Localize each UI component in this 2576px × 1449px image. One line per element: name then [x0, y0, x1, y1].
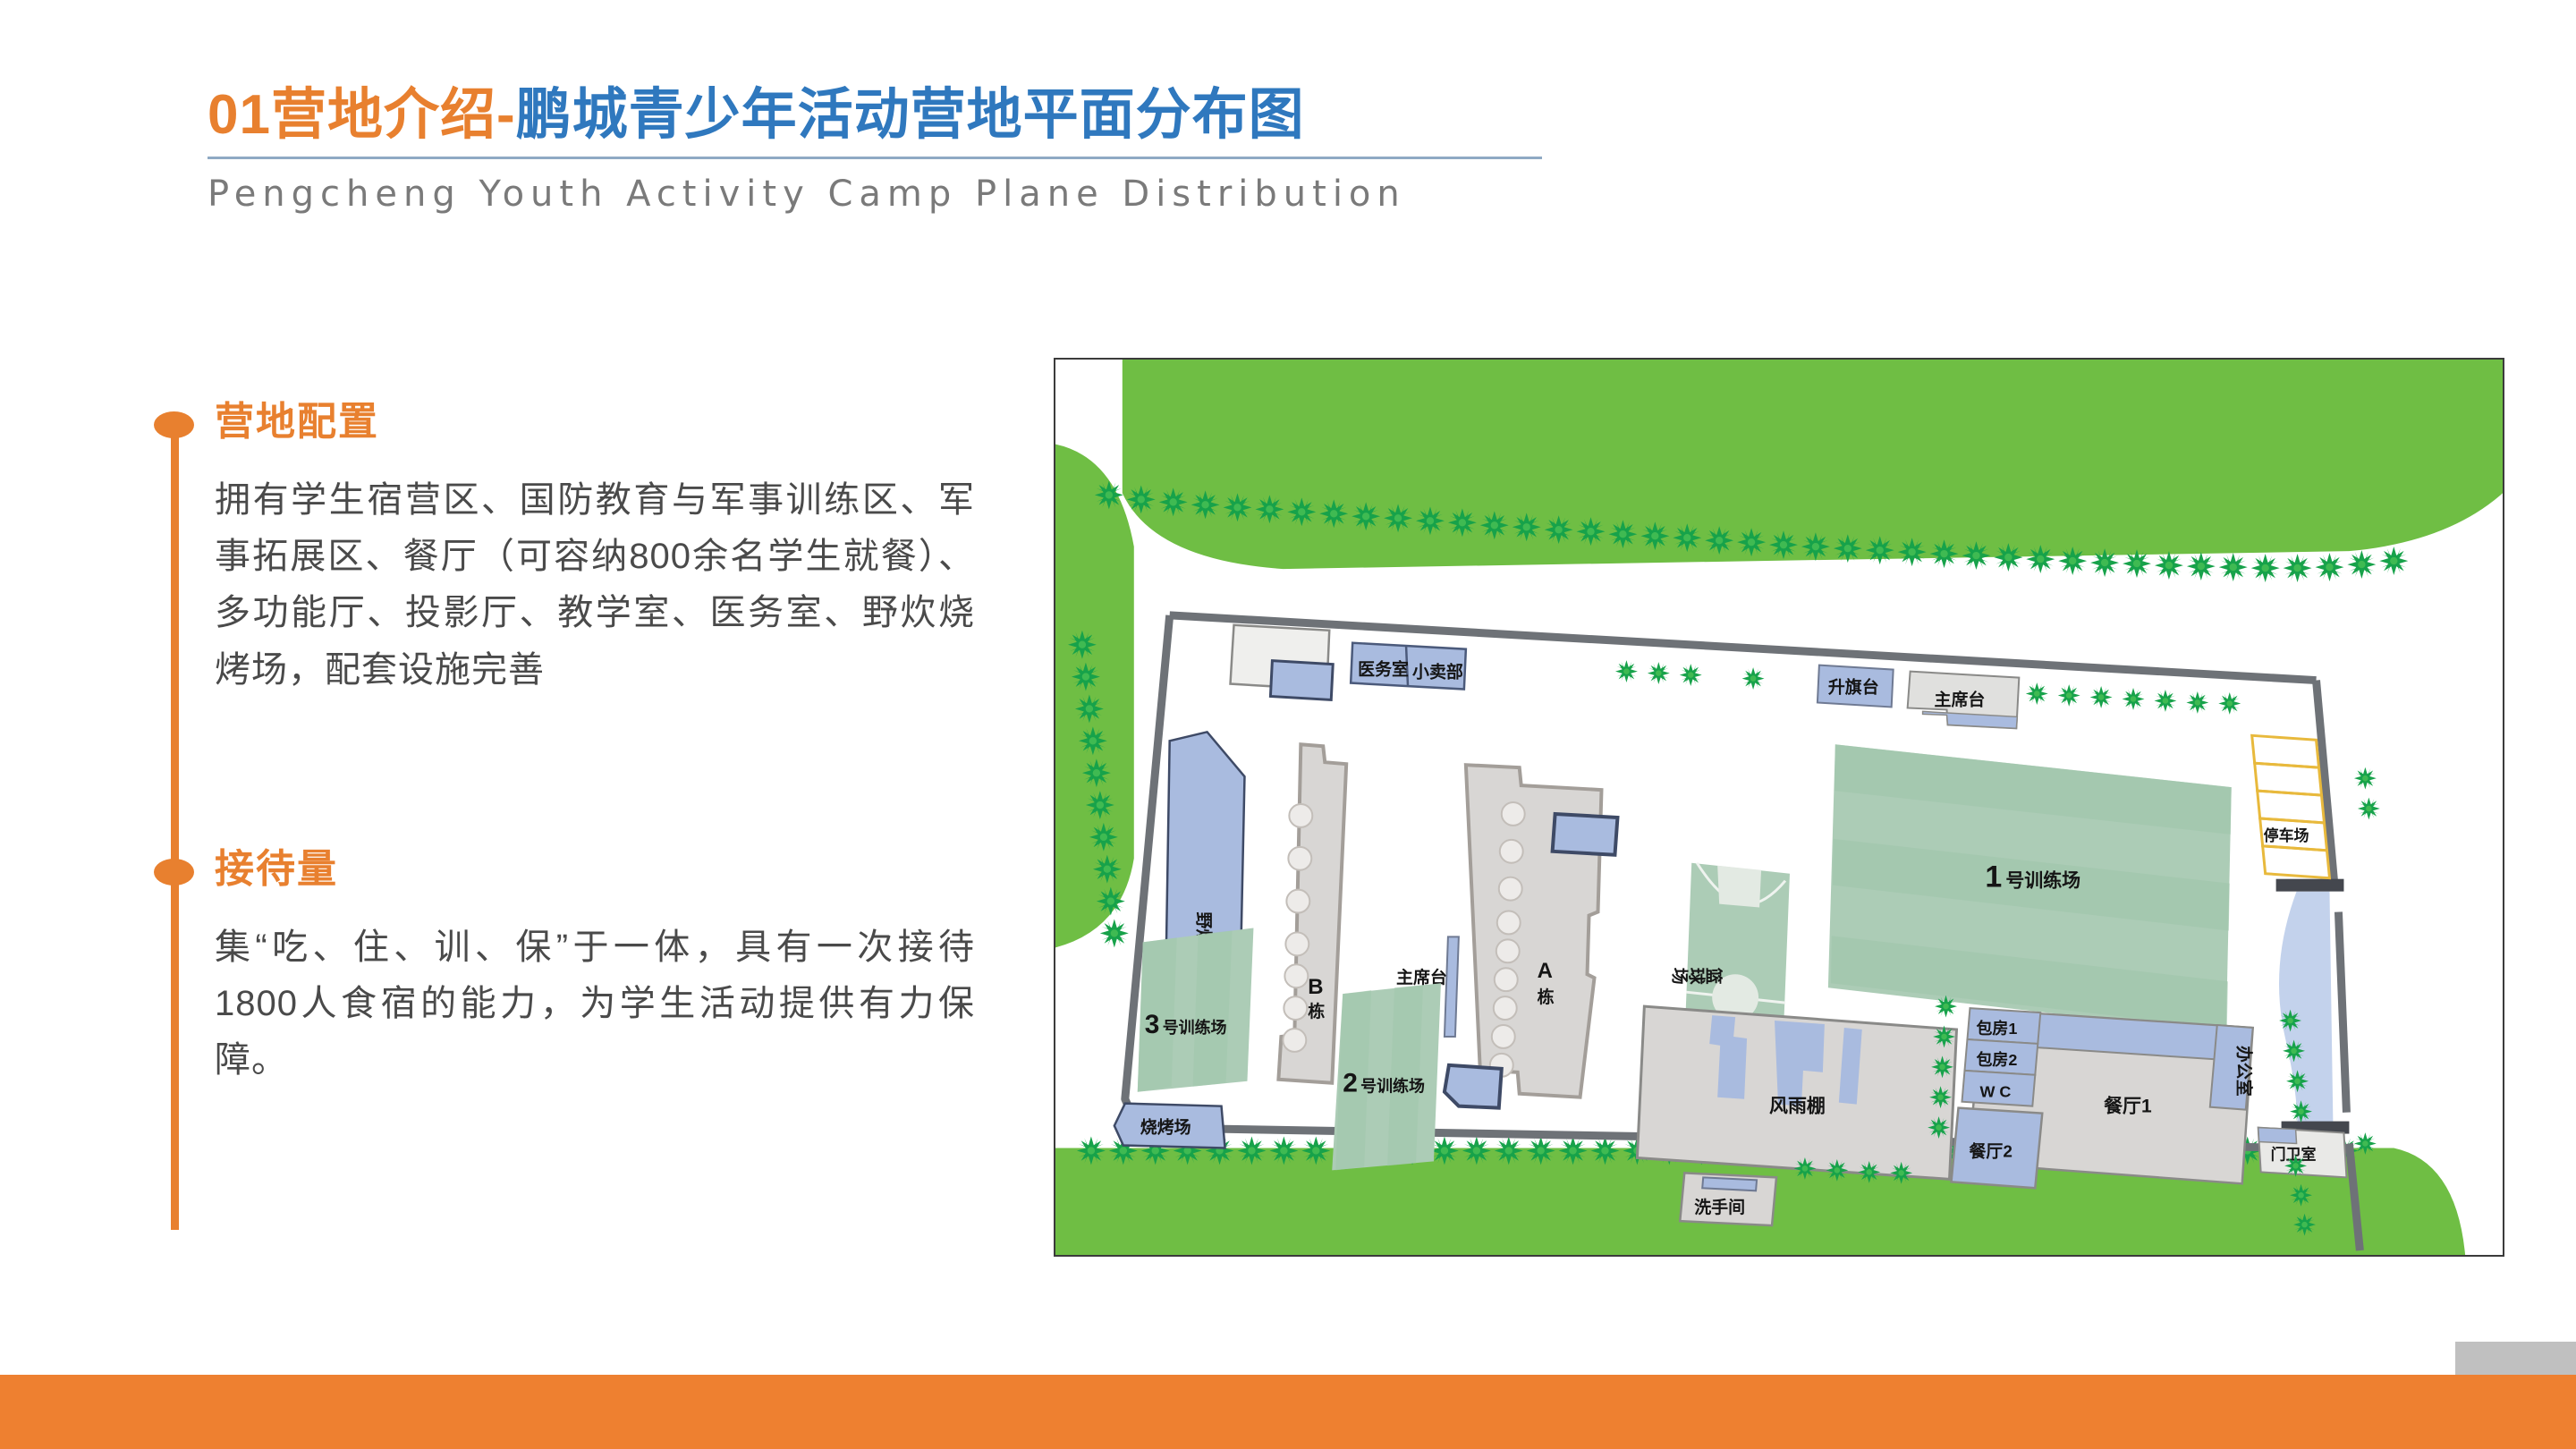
bullet-marker-icon-2 — [154, 859, 194, 885]
restroom: 洗手间 — [1680, 1173, 1776, 1225]
northwest-small-building — [1231, 625, 1334, 700]
section-1-body: 拥有学生宿营区、国防教育与军事训练区、军事拓展区、餐厅（可容纳800余名学生就餐… — [215, 472, 975, 699]
info-section-1: 营地配置 拥有学生宿营区、国防教育与军事训练区、军事拓展区、餐厅（可容纳800余… — [215, 402, 1002, 699]
label-field-1-suffix: 号训练场 — [2005, 870, 2080, 892]
camp-plan-map: 停车场 门卫室 医务室 小卖部 升旗台 主席台 1 号训练场 — [1054, 358, 2504, 1257]
label-restroom: 洗手间 — [1694, 1197, 1745, 1217]
label-building-a-letter: A — [1538, 959, 1553, 983]
page-title-blue-part: 鹏城青少年活动营地平面分布图 — [516, 84, 1305, 146]
hedge-trees-right-upper — [2354, 767, 2380, 820]
label-building-b-suffix: 栋 — [1308, 1001, 1325, 1021]
label-wc: W C — [1979, 1083, 2011, 1101]
training-field-2: 2 号训练场 — [1332, 983, 1441, 1170]
label-private-room-1: 包房1 — [1976, 1019, 2017, 1038]
training-field-1: 1 号训练场 — [1828, 744, 2232, 1033]
label-private-room-2: 包房2 — [1976, 1050, 2017, 1069]
page-title-orange-suffix: 营地介绍- — [271, 84, 516, 146]
timeline-vertical-line — [171, 420, 179, 1230]
flag-raising-platform: 升旗台 — [1818, 665, 1894, 708]
page-subtitle: Pengcheng Youth Activity Camp Plane Dist… — [208, 174, 1728, 215]
label-flag-platform: 升旗台 — [1828, 677, 1879, 698]
training-field-3: 3 号训练场 — [1138, 928, 1254, 1091]
section-2-body: 集“吃、住、训、保”于一体，具有一次接待1800人食宿的能力，为学生活动提供有力… — [215, 919, 975, 1089]
label-canteen-1: 餐厅1 — [2104, 1096, 2152, 1117]
rostrum-top: 主席台 — [1908, 672, 2020, 729]
camp-plan-svg: 停车场 门卫室 医务室 小卖部 升旗台 主席台 1 号训练场 — [1055, 360, 2503, 1255]
title-underline-divider — [208, 157, 1542, 159]
footer-orange-bar — [0, 1375, 2576, 1449]
label-office: 办公室 — [2234, 1046, 2255, 1097]
label-medical-room: 医务室 — [1358, 659, 1409, 680]
label-canteen-2: 餐厅2 — [1969, 1140, 2012, 1161]
label-guard-room: 门卫室 — [2271, 1145, 2317, 1163]
label-rostrum-top: 主席台 — [1935, 689, 1986, 709]
page-header: 01营地介绍-鹏城青少年活动营地平面分布图 Pengcheng Youth Ac… — [208, 86, 1728, 215]
hedge-trees-east-strip — [2354, 1132, 2377, 1155]
label-building-b-letter: B — [1308, 975, 1323, 999]
label-field-2-suffix: 号训练场 — [1360, 1077, 1425, 1096]
label-basketball-court: 篮球场 — [1672, 965, 1724, 985]
label-bbq-area: 烧烤场 — [1140, 1117, 1191, 1138]
building-a: A 栋 — [1445, 765, 1618, 1107]
page-title: 01营地介绍-鹏城青少年活动营地平面分布图 — [208, 86, 1728, 144]
rain-shelter: 风雨棚 — [1637, 1006, 1956, 1179]
label-shop: 小卖部 — [1412, 662, 1463, 682]
label-rain-shelter: 风雨棚 — [1769, 1096, 1826, 1117]
canteen-complex: 办公室 餐厅1 包房1 包房2 W C 餐厅2 — [1952, 1008, 2255, 1188]
label-field-3-suffix: 号训练场 — [1163, 1018, 1227, 1037]
bbq-area: 烧烤场 — [1114, 1104, 1225, 1148]
parking-lot-area: 停车场 — [2252, 735, 2330, 877]
label-field-3-number: 3 — [1145, 1010, 1160, 1039]
footer-corner-tab — [2455, 1342, 2576, 1375]
label-building-a-suffix: 栋 — [1538, 987, 1555, 1007]
section-1-heading: 营地配置 — [215, 402, 1002, 442]
bullet-marker-icon-1 — [154, 411, 194, 438]
label-field-1-number: 1 — [1985, 860, 2002, 894]
page-title-orange-part: 01 — [208, 84, 271, 146]
section-2-heading: 接待量 — [215, 850, 1002, 889]
label-parking-lot: 停车场 — [2264, 826, 2309, 844]
building-b: B 栋 — [1278, 744, 1346, 1082]
label-field-2-number: 2 — [1343, 1069, 1358, 1098]
medical-and-shop-block: 医务室 小卖部 — [1351, 643, 1466, 690]
info-section-2: 接待量 集“吃、住、训、保”于一体，具有一次接待1800人食宿的能力，为学生活动… — [215, 850, 1002, 1089]
